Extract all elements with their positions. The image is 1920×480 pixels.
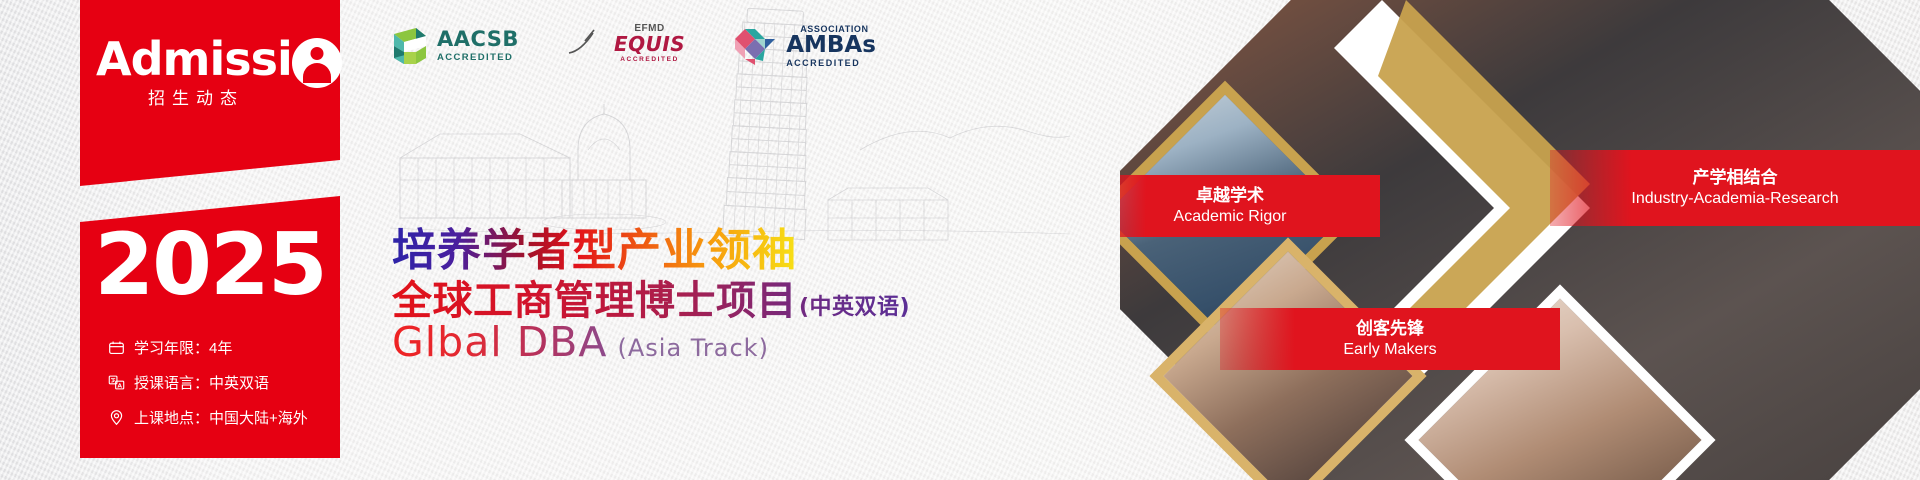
label-academic-rigor: 卓越学术 Academic Rigor <box>1120 175 1380 237</box>
label-makers-en: Early Makers <box>1343 340 1436 360</box>
label-makers-cn: 创客先锋 <box>1356 318 1424 339</box>
info-row-location: 上课地点：中国大陆+海外 <box>108 400 348 435</box>
info-label-location: 上课地点：中国大陆+海外 <box>134 407 308 428</box>
aacsb-name: AACSB <box>437 29 519 50</box>
equis-name: EQUIS <box>614 34 685 54</box>
program-title-paren: (中英双语) <box>799 289 910 321</box>
efmd-swoosh-icon <box>567 27 607 61</box>
label-industry-cn: 产学相结合 <box>1693 167 1778 188</box>
admission-logo: Admissi 招生动态 <box>96 36 346 116</box>
label-academic-cn: 卓越学术 <box>1196 185 1264 206</box>
headline-program-english: Glbal DBA (Asia Track) <box>392 318 769 366</box>
location-pin-icon <box>108 409 125 426</box>
aacsb-cube-icon <box>386 24 430 68</box>
info-label-language: 授课语言：中英双语 <box>134 372 269 393</box>
info-row-language: 授课语言：中英双语 <box>108 365 348 400</box>
label-academic-en: Academic Rigor <box>1174 207 1287 227</box>
amba-name: AMBAs <box>786 34 876 57</box>
calendar-icon <box>108 339 125 356</box>
logo-chinese-label: 招生动态 <box>148 84 244 109</box>
amba-diamond-icon <box>733 24 779 68</box>
accreditation-logos: AACSB ACCREDITED EFMD EQUIS ACCREDITED <box>386 24 876 68</box>
person-body-shape <box>303 63 331 83</box>
program-english-track: (Asia Track) <box>617 334 768 362</box>
amba-logo: ASSOCIATION AMBAs ACCREDITED <box>733 24 876 68</box>
logo-wordmark: Admissi <box>96 36 292 82</box>
label-industry-en: Industry-Academia-Research <box>1631 189 1838 209</box>
info-row-duration: 学习年限：4年 <box>108 330 348 365</box>
info-label-duration: 学习年限：4年 <box>134 337 232 358</box>
admission-banner: Admissi 招生动态 2025 学习年限：4年 <box>0 0 1920 480</box>
label-industry-academia: 产学相结合 Industry-Academia-Research <box>1550 150 1920 226</box>
aacsb-logo: AACSB ACCREDITED <box>386 24 519 68</box>
person-head-shape <box>311 47 324 60</box>
left-red-panel: Admissi 招生动态 2025 学习年限：4年 <box>80 0 340 458</box>
amba-subtitle: ACCREDITED <box>786 59 876 68</box>
label-early-makers: 创客先锋 Early Makers <box>1220 308 1560 370</box>
aacsb-subtitle: ACCREDITED <box>437 53 519 63</box>
equis-subtitle: ACCREDITED <box>620 57 679 64</box>
photo-collage: 产学相结合 Industry-Academia-Research 卓越学术 Ac… <box>1120 0 1920 480</box>
language-icon <box>108 374 125 391</box>
year-heading: 2025 <box>80 222 340 308</box>
person-badge-icon <box>292 38 342 88</box>
program-english-name: Glbal DBA <box>392 318 607 366</box>
equis-logo: EFMD EQUIS ACCREDITED <box>567 24 685 64</box>
program-info-list: 学习年限：4年 授课语言：中英双语 <box>108 330 348 435</box>
